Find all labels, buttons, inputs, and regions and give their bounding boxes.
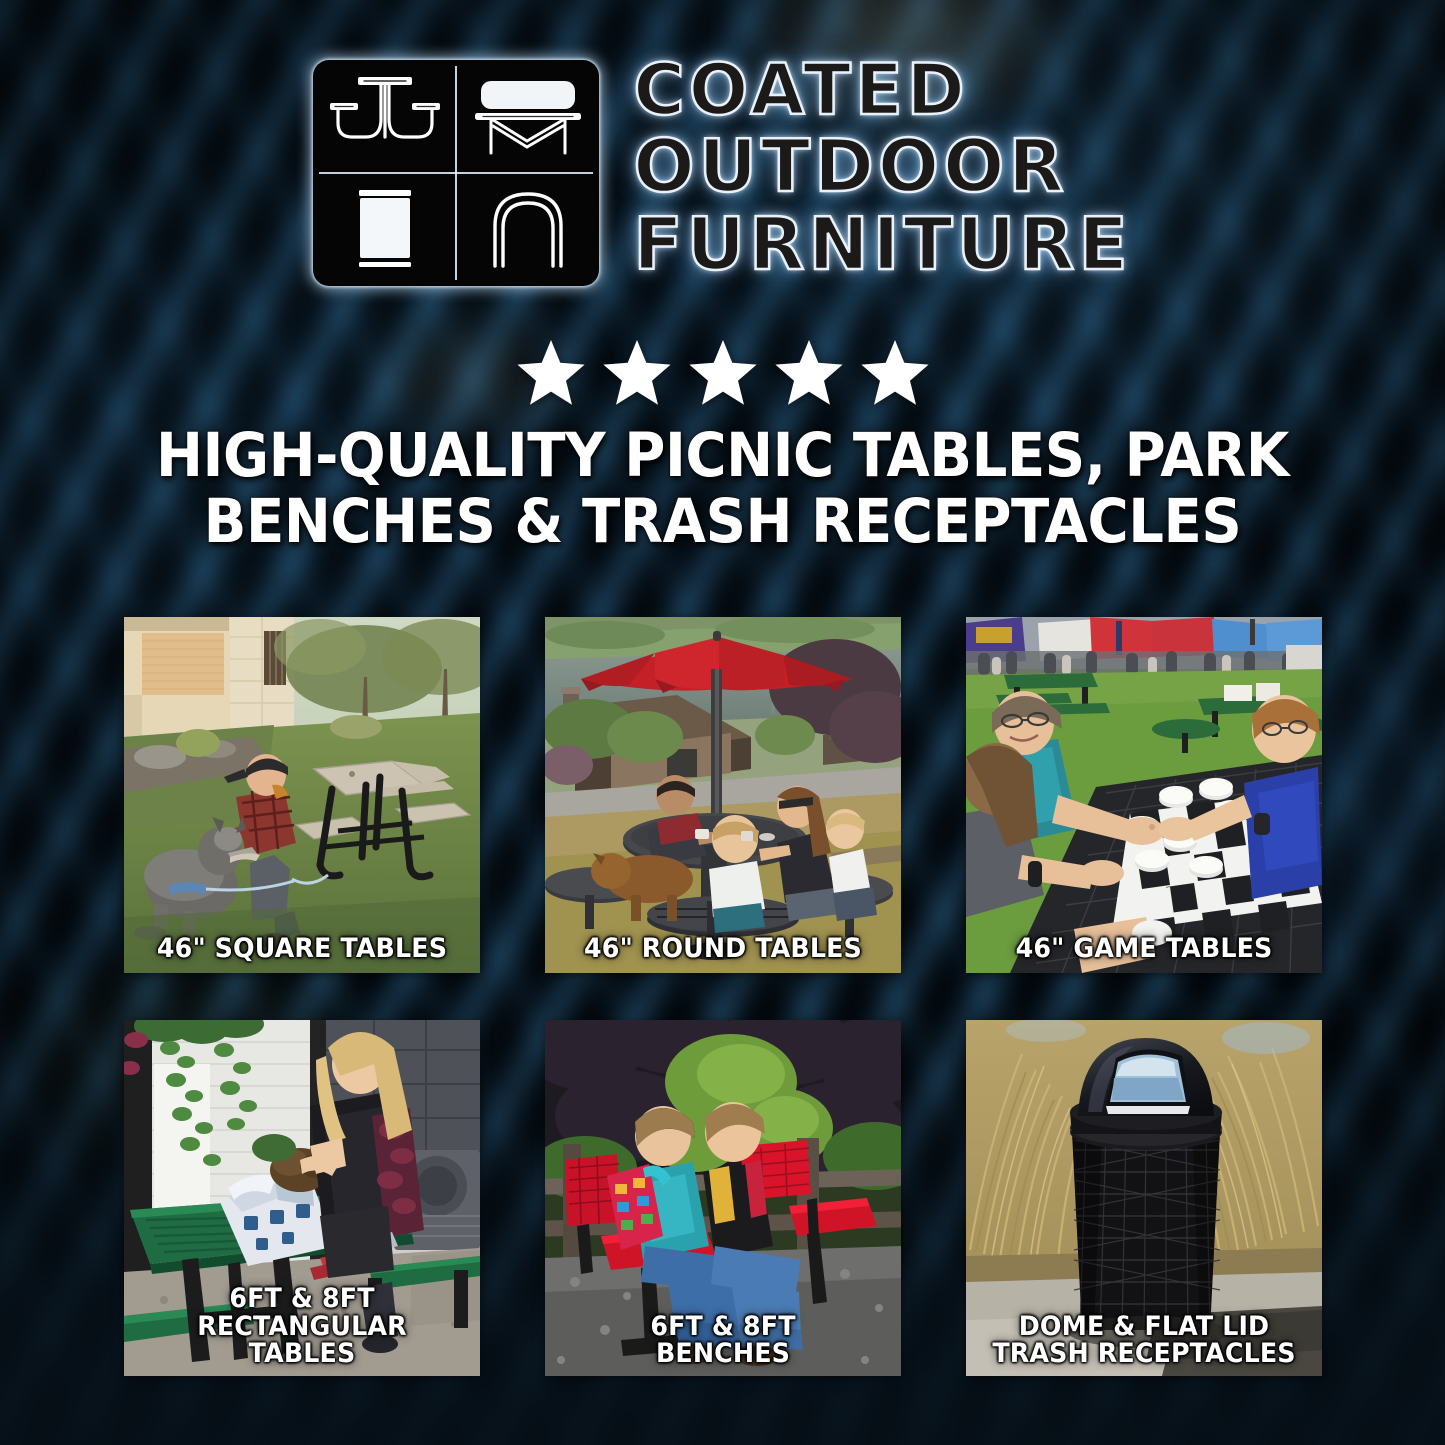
product-caption-line: TRASH RECEPTACLES	[982, 1340, 1305, 1368]
logo-mark	[313, 60, 599, 286]
product-caption-line: 46" ROUND TABLES	[561, 935, 884, 963]
brand-word-outdoor: OUTDOOR	[633, 131, 1131, 202]
product-photo-round-tables	[545, 617, 901, 973]
dome-lid-trash-icon	[456, 173, 599, 286]
product-caption-line: 46" SQUARE TABLES	[140, 935, 463, 963]
product-photo-square-tables	[124, 617, 480, 973]
star-icon	[686, 337, 760, 409]
star-icon	[858, 337, 932, 409]
brand-logo: COATED OUTDOOR FURNITURE	[0, 60, 1445, 286]
product-caption: 6FT & 8FT BENCHES	[561, 1313, 884, 1368]
product-caption: DOME & FLAT LID TRASH RECEPTACLES	[982, 1313, 1305, 1368]
product-caption: 46" ROUND TABLES	[561, 935, 884, 963]
brand-word-furniture: FURNITURE	[633, 209, 1131, 280]
product-caption-line: 46" GAME TABLES	[982, 935, 1305, 963]
product-caption-line: 6FT & 8FT	[561, 1313, 884, 1341]
star-icon	[772, 337, 846, 409]
product-caption-line: DOME & FLAT LID	[982, 1313, 1305, 1341]
headline: HIGH-QUALITY PICNIC TABLES, PARK BENCHES…	[113, 425, 1332, 553]
product-caption-line: BENCHES	[561, 1340, 884, 1368]
product-card-benches[interactable]: 6FT & 8FT BENCHES	[545, 1020, 901, 1376]
star-rating	[0, 337, 1445, 409]
headline-line-1: HIGH-QUALITY PICNIC TABLES, PARK	[113, 425, 1332, 487]
flat-lid-trash-icon	[313, 173, 456, 286]
promo-poster: COATED OUTDOOR FURNITURE HIGH-QUALITY PI…	[0, 0, 1445, 1445]
brand-wordmark: COATED OUTDOOR FURNITURE	[633, 56, 1131, 280]
picnic-table-icon	[313, 60, 456, 173]
product-caption: 46" GAME TABLES	[982, 935, 1305, 963]
brand-word-coated: COATED	[633, 56, 1131, 125]
star-icon	[600, 337, 674, 409]
star-icon	[514, 337, 588, 409]
product-card-rectangular-tables[interactable]: 6FT & 8FT RECTANGULAR TABLES	[124, 1020, 480, 1376]
product-card-trash-receptacles[interactable]: DOME & FLAT LID TRASH RECEPTACLES	[966, 1020, 1322, 1376]
product-caption: 46" SQUARE TABLES	[140, 935, 463, 963]
bench-icon	[456, 60, 599, 173]
product-card-square-tables[interactable]: 46" SQUARE TABLES	[124, 617, 480, 973]
headline-line-2: BENCHES & TRASH RECEPTACLES	[113, 491, 1332, 553]
product-card-round-tables[interactable]: 46" ROUND TABLES	[545, 617, 901, 973]
product-caption-line: 6FT & 8FT	[140, 1285, 463, 1313]
product-grid: 46" SQUARE TABLES	[124, 617, 1322, 1376]
product-card-game-tables[interactable]: 46" GAME TABLES	[966, 617, 1322, 973]
product-photo-game-tables	[966, 617, 1322, 973]
product-caption: 6FT & 8FT RECTANGULAR TABLES	[140, 1285, 463, 1368]
product-caption-line: RECTANGULAR TABLES	[140, 1313, 463, 1368]
